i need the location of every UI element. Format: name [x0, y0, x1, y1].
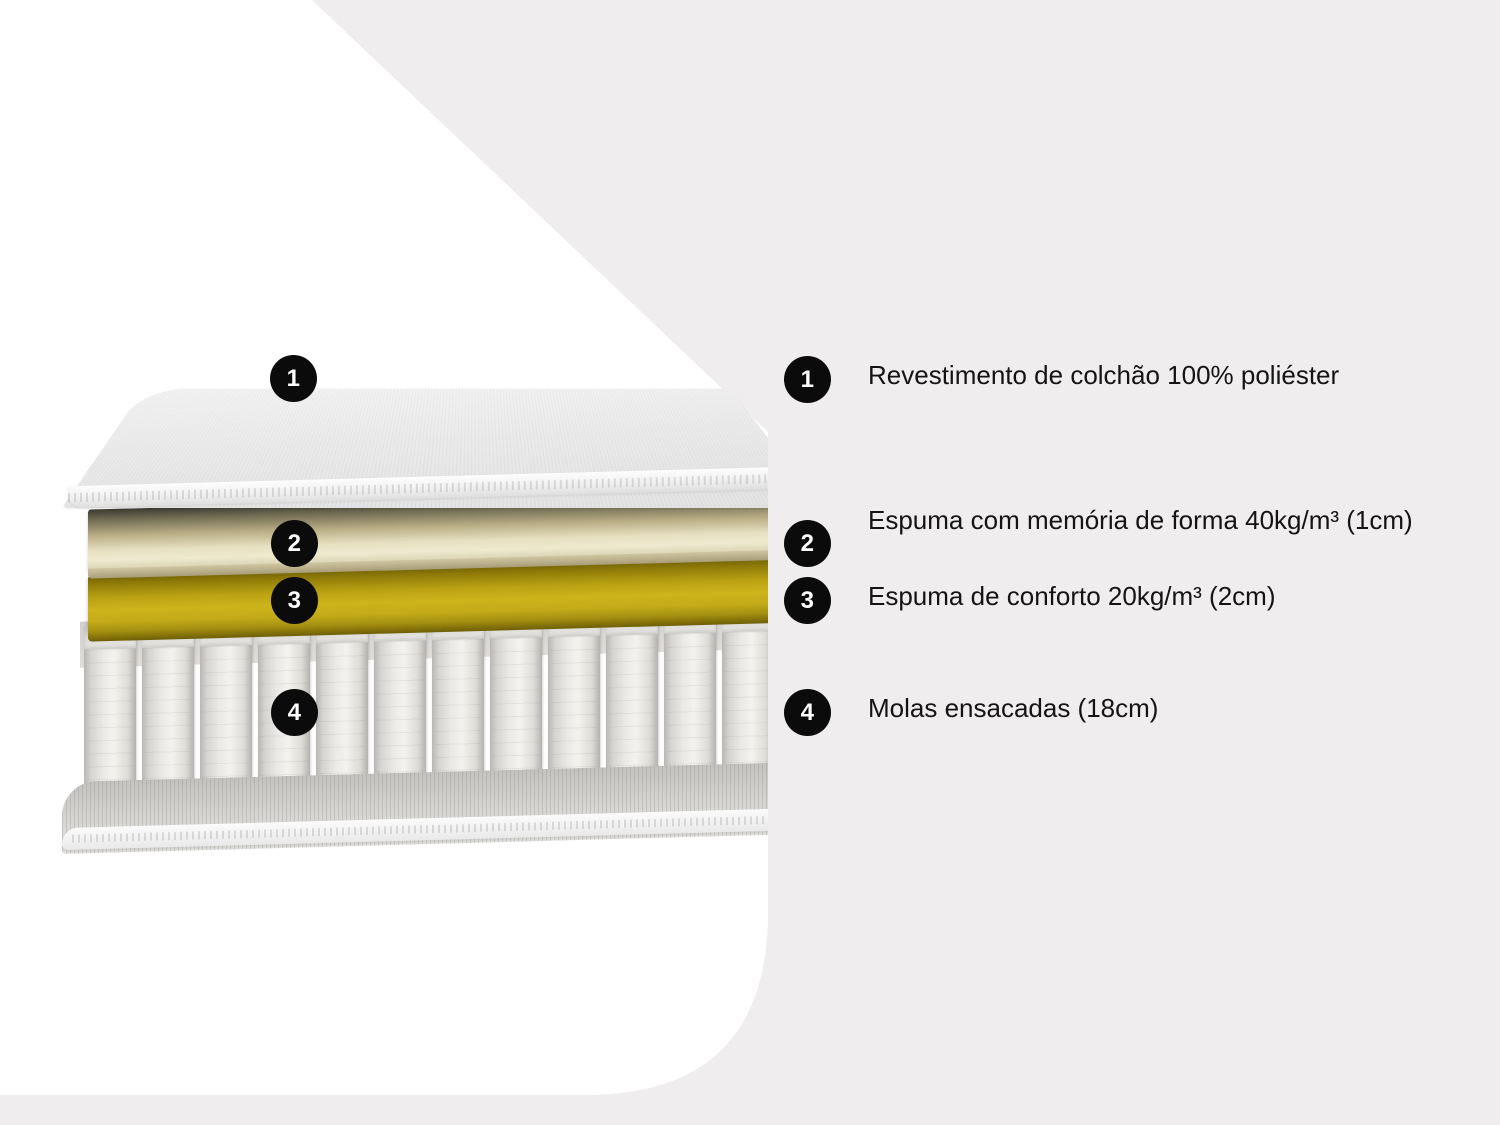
- legend-item-1: 1 Revestimento de colchão 100% poliéster: [784, 356, 1339, 403]
- legend-item-2: 2 Espuma com memória de forma 40kg/m³ (1…: [784, 501, 1413, 548]
- legend-badge-2: 2: [784, 520, 831, 567]
- legend-badge-1: 1: [784, 356, 831, 403]
- spring-unit: [84, 622, 136, 795]
- spring-unit: [432, 613, 484, 786]
- spring-unit: [548, 610, 600, 783]
- diagram-badge-3: 3: [271, 577, 318, 624]
- legend-label-4: Molas ensacadas (18cm): [868, 689, 1158, 727]
- spring-unit: [722, 605, 768, 778]
- legend-badge-3: 3: [784, 577, 831, 624]
- spring-unit: [142, 621, 194, 794]
- spring-unit: [200, 619, 252, 792]
- spring-unit: [490, 611, 542, 784]
- spring-unit: [664, 607, 716, 780]
- legend-label-1: Revestimento de colchão 100% poliéster: [868, 356, 1339, 394]
- legend-item-3: 3 Espuma de conforto 20kg/m³ (2cm): [784, 577, 1276, 624]
- mattress-layers-infographic: 1 2 3 4 1 Revestimento de colchão 100% p…: [0, 0, 1500, 1125]
- diagram-badge-4: 4: [271, 689, 318, 736]
- spring-unit: [374, 614, 426, 787]
- mattress-image-clip: 1 2 3 4: [0, 0, 768, 1125]
- legend-item-4: 4 Molas ensacadas (18cm): [784, 689, 1158, 736]
- spring-unit: [316, 616, 368, 789]
- mattress-artwork: 1 2 3 4: [0, 0, 768, 1125]
- legend-label-3: Espuma de conforto 20kg/m³ (2cm): [868, 577, 1276, 615]
- legend-badge-4: 4: [784, 689, 831, 736]
- layer-cover: [62, 276, 768, 508]
- legend-list: 1 Revestimento de colchão 100% poliéster…: [784, 0, 1484, 1125]
- diagram-badge-2: 2: [271, 520, 318, 567]
- diagram-badge-1: 1: [270, 355, 317, 402]
- spring-unit: [606, 608, 658, 781]
- legend-label-2: Espuma com memória de forma 40kg/m³ (1cm…: [868, 501, 1413, 539]
